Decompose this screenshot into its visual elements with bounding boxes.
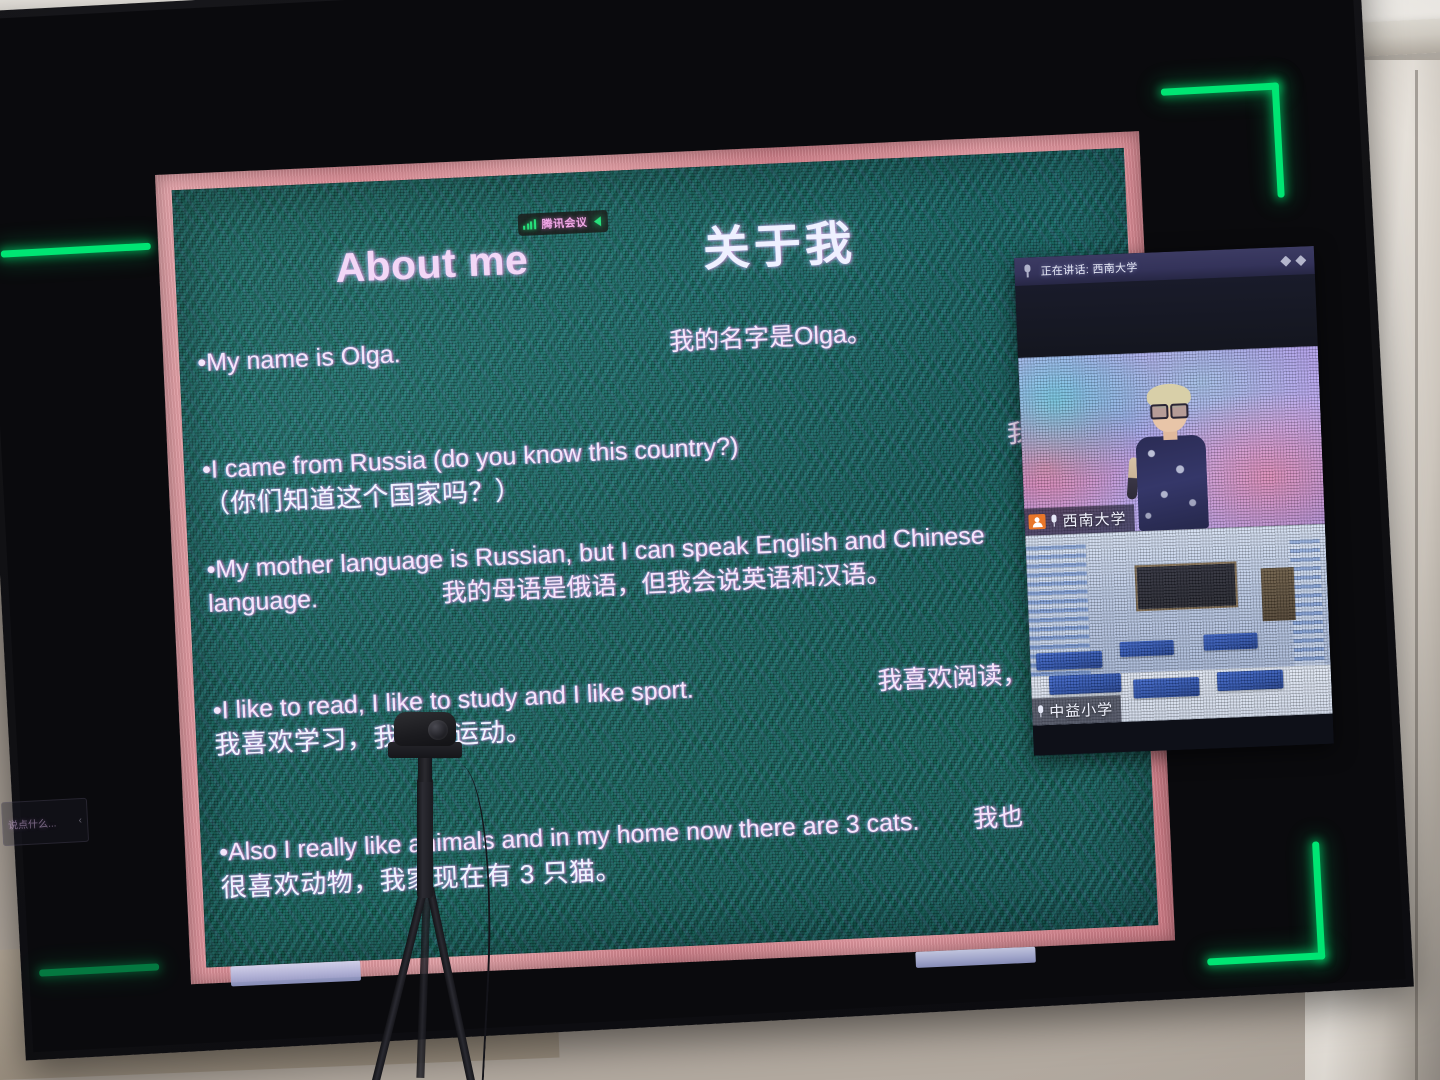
camera-tripod-rig	[370, 712, 500, 1080]
slide-title-zh: 关于我	[701, 204, 857, 280]
chat-input-placeholder: 说点什么...	[8, 814, 57, 832]
classroom-background	[1025, 524, 1332, 726]
chat-input-overlay[interactable]: 说点什么... ‹	[1, 798, 89, 846]
chat-send-arrow-icon[interactable]: ‹	[78, 815, 82, 826]
camera-lens-icon	[428, 720, 448, 740]
video-tile-label: 中益小学	[1032, 695, 1122, 726]
classroom-chalkboard	[1134, 562, 1238, 612]
video-tile-speaker[interactable]: 西南大学	[1018, 346, 1325, 536]
presenter-figure	[1119, 378, 1221, 532]
classroom-cabinet	[1261, 567, 1296, 621]
tencent-meeting-status-pill[interactable]: 腾讯会议	[518, 210, 608, 236]
microphone-icon	[1022, 264, 1033, 278]
slide-bullet-list: •My name is Olga. 我的名字是Olga。 •I came fro…	[189, 306, 1138, 907]
slide-board: About me 关于我 •My name is Olga. 我的名字是Olga…	[172, 148, 1159, 968]
speaker-icon	[593, 216, 600, 226]
video-tile-classroom[interactable]: 中益小学	[1025, 524, 1332, 726]
host-badge-icon	[1028, 514, 1046, 530]
app-name-label: 腾讯会议	[541, 214, 588, 232]
video-conference-panel[interactable]: 正在讲话: 西南大学 西南大学	[1014, 246, 1334, 756]
classroom-desk	[1036, 651, 1103, 671]
slide-content: About me 关于我 •My name is Olga. 我的名字是Olga…	[172, 148, 1159, 968]
signal-bars-icon	[523, 219, 536, 230]
bullet-text-zh: 我的名字是Olga。	[669, 319, 873, 356]
camera-cable	[424, 764, 501, 1080]
presenter-torso	[1135, 434, 1209, 531]
bullet-text-zh: 我喜欢阅读，	[877, 661, 1028, 696]
ptz-camera-head	[394, 712, 456, 746]
bullet-text-zh: 我也	[973, 803, 1024, 833]
camera-mount-neck	[418, 756, 432, 782]
microphone-icon	[1036, 705, 1046, 718]
tripod-column	[417, 778, 433, 898]
classroom-desk	[1120, 640, 1175, 657]
classroom-desk	[1217, 670, 1284, 692]
microphone-icon	[1049, 514, 1059, 527]
slide-title-en: About me	[334, 237, 529, 293]
bullet-name: •My name is Olga. 我的名字是Olga。	[197, 306, 1115, 381]
screenshot-scene: About me 关于我 •My name is Olga. 我的名字是Olga…	[0, 0, 1440, 1080]
classroom-desk	[1203, 633, 1258, 650]
bullet-text-en: language.	[208, 586, 319, 619]
bullet-text-en: •My name is Olga.	[197, 340, 401, 377]
video-panel-empty-area	[1015, 274, 1318, 358]
slide-title: About me 关于我	[184, 193, 1111, 303]
glasses-icon	[1150, 403, 1188, 416]
bullet-line: •My name is Olga. 我的名字是Olga。	[197, 306, 1115, 381]
bullet-language: •My mother language is Russian, but I ca…	[206, 512, 1125, 622]
classroom-desk	[1049, 673, 1122, 695]
layout-switch-icon[interactable]	[1280, 255, 1306, 267]
active-speaker-label: 正在讲话: 西南大学	[1040, 259, 1138, 279]
classroom-desk	[1133, 677, 1200, 699]
participant-name: 中益小学	[1049, 698, 1114, 722]
participant-name: 西南大学	[1062, 508, 1127, 532]
wall-corner-edge	[1415, 70, 1418, 1080]
